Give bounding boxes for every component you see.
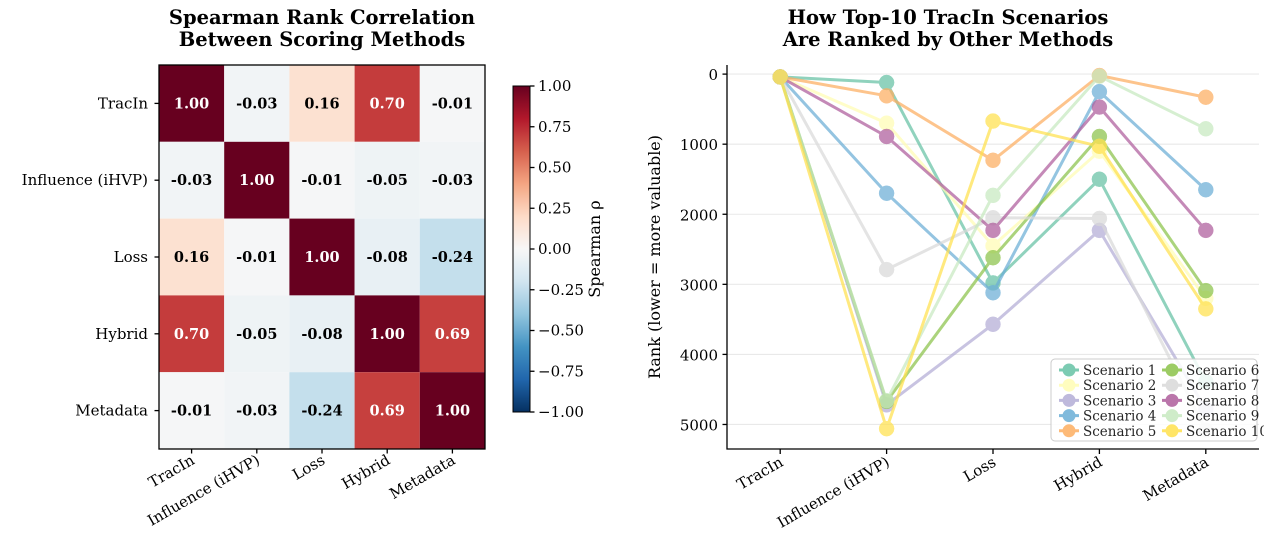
lineplot-marker [773,69,788,84]
legend-marker-swatch [1063,364,1076,377]
lineplot-marker [986,317,1001,332]
lineplot-marker [879,75,894,90]
heatmap-cell-value: -0.01 [171,403,212,420]
colorbar-tick-label: 1.00 [538,77,571,95]
legend-label: Scenario 3 [1083,393,1156,409]
legend-marker-swatch [1166,364,1179,377]
heatmap-cell-value: -0.08 [367,249,408,266]
legend-label: Scenario 7 [1186,378,1259,394]
colorbar-tick-label: 0.50 [538,159,571,177]
heatmap-row-label: Hybrid [95,325,148,343]
lineplot-x-tick-label: Loss [960,453,999,486]
lineplot-x-tick-label: Influence (iHVP) [774,453,892,532]
heatmap-cell-value: -0.03 [171,172,212,189]
lineplot-y-tick-label: 4000 [680,346,718,364]
legend-marker-swatch [1166,409,1179,422]
heatmap-column-labels: TracInInfluence (iHVP)LossHybridMetadata [144,451,458,530]
lineplot-marker [986,188,1001,203]
heatmap-cell-value: 0.69 [370,403,405,420]
heatmap-cell-value: -0.24 [432,249,473,266]
lineplot-marker [1198,283,1213,298]
heatmap-cell-value: -0.01 [432,95,473,112]
lineplot-marker [1092,69,1107,84]
lineplot-marker [879,88,894,103]
heatmap-cell-value: 0.70 [174,326,209,343]
lineplot-x-tick-label: Hybrid [1051,453,1106,495]
figure-canvas: Spearman Rank Correlation Between Scorin… [0,0,1264,559]
heatmap-cell-value: -0.01 [301,172,342,189]
colorbar-gradient [513,86,530,412]
legend-marker-swatch [1063,394,1076,407]
colorbar-tick-label: −1.00 [538,403,584,421]
colorbar-tick-label: −0.50 [538,322,584,340]
heatmap-title-line1: Spearman Rank Correlation [169,6,475,29]
lineplot-marker [986,250,1001,265]
lineplot-marker [986,223,1001,238]
lineplot-y-tick-label: 1000 [680,136,718,154]
legend-label: Scenario 1 [1083,363,1156,379]
heatmap-cell-value: 0.16 [174,249,209,266]
legend-marker-swatch [1166,379,1179,392]
heatmap-cell-value: 1.00 [370,326,405,343]
lineplot-svg: How Top-10 TracIn Scenarios Are Ranked b… [632,0,1264,559]
legend-marker-swatch [1063,379,1076,392]
heatmap-cell-value: -0.05 [236,326,277,343]
heatmap-cell-value: 1.00 [435,403,470,420]
lineplot-marker [1198,90,1213,105]
heatmap-col-label: Loss [289,451,328,484]
lineplot-marker [1198,301,1213,316]
lineplot-marker [1092,211,1107,226]
heatmap-cell-value: 1.00 [174,95,209,112]
heatmap-col-label: TracIn [145,451,198,492]
colorbar: 1.000.750.500.250.00−0.25−0.50−0.75−1.00… [513,77,604,421]
heatmap-col-label: Hybrid [339,451,394,493]
legend-marker-swatch [1063,424,1076,437]
heatmap-cell-value: 0.16 [304,95,339,112]
heatmap-row-labels: TracInInfluence (iHVP)LossHybridMetadata [22,94,149,419]
heatmap-cell-value: 0.69 [435,326,470,343]
heatmap-cell-value: -0.03 [236,403,277,420]
lineplot-x-tick-label: TracIn [734,453,787,494]
rank-lineplot-panel: How Top-10 TracIn Scenarios Are Ranked b… [632,0,1264,559]
heatmap-row-label: Influence (iHVP) [22,171,148,189]
heatmap-cell-value: -0.03 [432,172,473,189]
legend-label: Scenario 10 [1186,424,1264,440]
lineplot-legend: Scenario 1Scenario 2Scenario 3Scenario 4… [1051,359,1264,441]
legend-label: Scenario 9 [1186,409,1259,425]
legend-label: Scenario 2 [1083,378,1156,394]
heatmap-cell-value: 1.00 [239,172,274,189]
lineplot-marker [1198,182,1213,197]
heatmap-cell-value: -0.24 [301,403,342,420]
lineplot-marker [879,393,894,408]
colorbar-tick-label: 0.75 [538,118,571,136]
heatmap-row-label: Metadata [75,402,148,420]
legend-marker-swatch [1166,424,1179,437]
lineplot-marker [1092,139,1107,154]
heatmap-cell-value: -0.05 [367,172,408,189]
lineplot-marker [1092,100,1107,115]
lineplot-y-tick-label: 5000 [680,416,718,434]
lineplot-marker [879,129,894,144]
heatmap-cell-value: -0.03 [236,95,277,112]
legend-marker-swatch [1166,394,1179,407]
lineplot-marker [986,153,1001,168]
lineplot-x-ticks: TracInInfluence (iHVP)LossHybridMetadata [734,449,1212,532]
heatmap-row-label: TracIn [98,94,148,112]
lineplot-y-tick-label: 2000 [680,206,718,224]
lineplot-marker [879,421,894,436]
heatmap-cell-value: -0.01 [236,249,277,266]
colorbar-tick-label: −0.25 [538,281,584,299]
lineplot-y-axis-label: Rank (lower = more valuable) [645,135,664,379]
lineplot-marker [986,114,1001,129]
lineplot-title-line1: How Top-10 TracIn Scenarios [788,6,1109,29]
colorbar-tick-label: 0.00 [538,240,571,258]
legend-label: Scenario 5 [1083,424,1156,440]
legend-label: Scenario 4 [1083,409,1156,425]
legend-label: Scenario 6 [1186,363,1259,379]
heatmap-cell-value: -0.08 [301,326,342,343]
colorbar-tick-label: 0.25 [538,199,571,217]
lineplot-title-line2: Are Ranked by Other Methods [782,28,1114,51]
heatmap-row-label: Loss [114,248,148,266]
legend-marker-swatch [1063,409,1076,422]
lineplot-marker [879,262,894,277]
lineplot-marker [1092,84,1107,99]
heatmap-cell-value: 0.70 [370,95,405,112]
lineplot-marker [1198,223,1213,238]
lineplot-marker [1092,172,1107,187]
heatmap-col-label: Influence (iHVP) [144,451,262,530]
heatmap-title-line2: Between Scoring Methods [179,28,466,51]
lineplot-y-ticks: 010002000300040005000 [680,66,727,434]
colorbar-tick-label: −0.75 [538,362,584,380]
heatmap-col-label: Metadata [386,451,458,503]
lineplot-y-tick-label: 3000 [680,276,718,294]
legend-label: Scenario 8 [1186,393,1259,409]
heatmap-cells: 1.00-0.030.160.70-0.01-0.031.00-0.01-0.0… [159,65,485,449]
spearman-heatmap-panel: Spearman Rank Correlation Between Scorin… [0,0,632,559]
lineplot-marker [879,186,894,201]
lineplot-x-tick-label: Metadata [1140,453,1212,505]
lineplot-marker [1198,121,1213,136]
lineplot-y-tick-label: 0 [708,66,718,84]
lineplot-marker [879,116,894,131]
colorbar-label: Spearman ρ [585,200,604,297]
heatmap-svg: Spearman Rank Correlation Between Scorin… [0,0,632,559]
heatmap-cell-value: 1.00 [304,249,339,266]
lineplot-marker [986,285,1001,300]
